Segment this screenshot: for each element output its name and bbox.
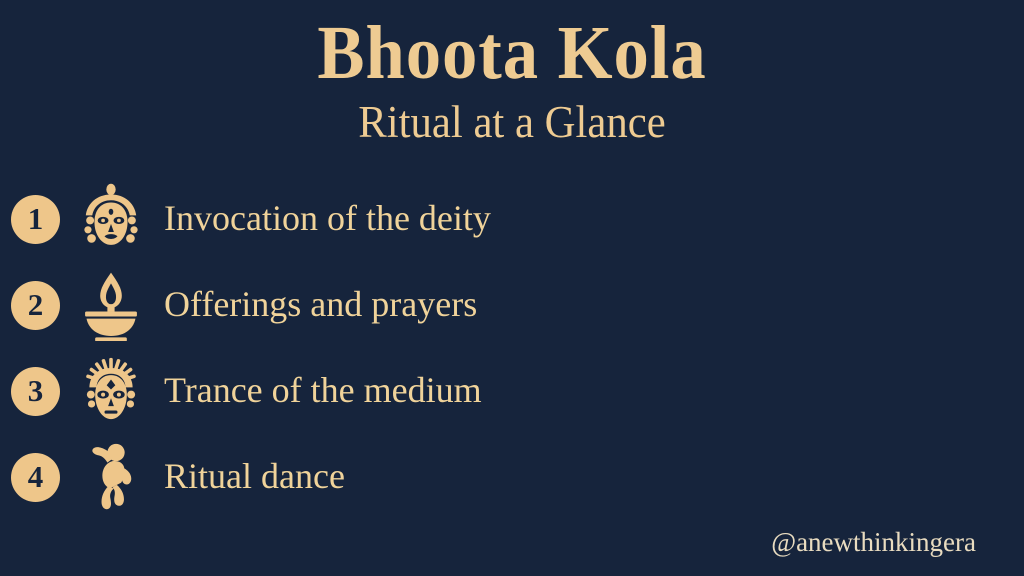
step-number-badge: 4 bbox=[11, 453, 60, 502]
ritual-steps-list: 1 bbox=[0, 176, 700, 520]
step-label: Invocation of the deity bbox=[164, 199, 700, 239]
step-number-badge: 3 bbox=[11, 367, 60, 416]
step-number-label: 2 bbox=[28, 289, 44, 320]
step-number-label: 3 bbox=[28, 375, 44, 406]
step-number-label: 4 bbox=[28, 461, 44, 492]
watermark-handle: @anewthinkingera bbox=[771, 527, 976, 558]
dancing-figure-icon bbox=[68, 437, 154, 517]
step-label: Offerings and prayers bbox=[164, 285, 700, 325]
oil-lamp-diya-icon bbox=[68, 265, 154, 345]
page-title: Bhoota Kola bbox=[36, 0, 988, 94]
list-item: 3 bbox=[0, 348, 700, 434]
infographic-poster: Bhoota Kola Ritual at a Glance 1 bbox=[0, 0, 1024, 576]
list-item: 4 Ritual dance bbox=[0, 434, 700, 520]
step-label: Trance of the medium bbox=[164, 371, 700, 411]
list-item: 2 Offerings and prayers bbox=[0, 262, 700, 348]
page-subtitle: Ritual at a Glance bbox=[26, 94, 999, 148]
ritual-mask-icon bbox=[68, 351, 154, 431]
step-number-label: 1 bbox=[28, 203, 44, 234]
poster-header: Bhoota Kola Ritual at a Glance bbox=[0, 0, 1024, 147]
step-number-badge: 2 bbox=[11, 281, 60, 330]
deity-face-icon bbox=[68, 179, 154, 259]
step-label: Ritual dance bbox=[164, 457, 700, 497]
step-number-badge: 1 bbox=[11, 195, 60, 244]
list-item: 1 bbox=[0, 176, 700, 262]
